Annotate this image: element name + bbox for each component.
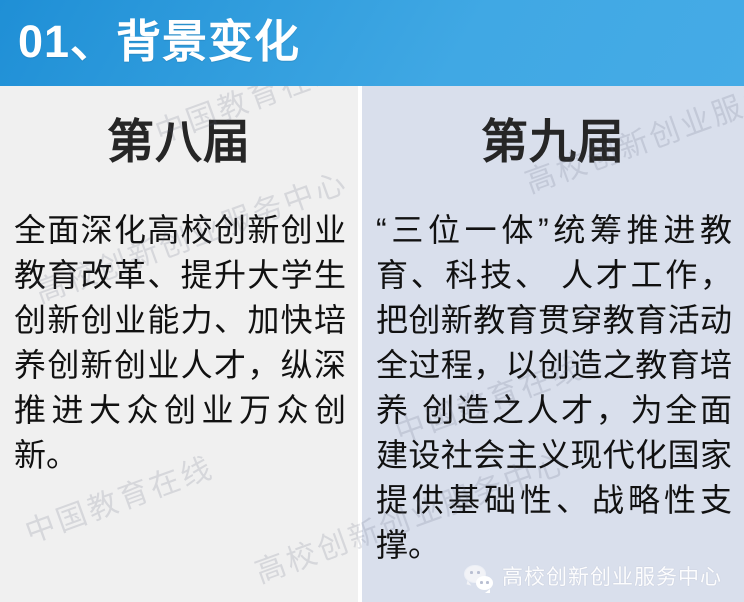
panel-right-heading: 第九届 [362,114,744,170]
panel-left-body: 全面深化高校创新创业教育改革、提升大学生创新创业能力、加快培养创新创业人才，纵深… [14,208,346,478]
panel-left-heading: 第八届 [0,114,358,170]
panel-right-body: “三位一体”统筹推进教育、科技、 人才工作，把创新教育贯穿教育活动全过程，以创造… [376,208,732,568]
content-area: 第八届 全面深化高校创新创业教育改革、提升大学生创新创业能力、加快培养创新创业人… [0,86,744,602]
header-banner: 01、背景变化 [0,0,744,86]
footer-account-name: 高校创新创业服务中心 [502,566,722,590]
panel-eighth-edition: 第八届 全面深化高校创新创业教育改革、提升大学生创新创业能力、加快培养创新创业人… [0,86,358,602]
wechat-icon [465,566,493,590]
panel-ninth-edition: 第九届 “三位一体”统筹推进教育、科技、 人才工作，把创新教育贯穿教育活动全过程… [362,86,744,602]
slide-canvas: 01、背景变化 第八届 全面深化高校创新创业教育改革、提升大学生创新创业能力、加… [0,0,744,602]
footer-account-badge: 高校创新创业服务中心 [465,566,722,590]
page-title: 01、背景变化 [18,11,300,73]
